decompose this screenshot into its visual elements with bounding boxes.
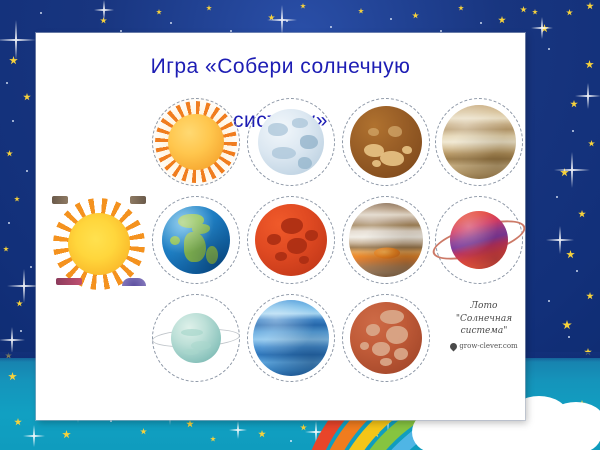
- star-dot: [30, 266, 32, 268]
- great-red-spot: [374, 247, 400, 258]
- star-dot: [290, 440, 292, 442]
- planet-card-sun[interactable]: [150, 96, 242, 188]
- earth-icon: [162, 206, 230, 274]
- neptune-icon: [253, 300, 329, 376]
- star-dot: [40, 12, 42, 14]
- star-dot: [572, 130, 574, 132]
- fragment-bottom-left: [56, 278, 82, 285]
- star-dot: [568, 336, 570, 338]
- mars-icon: [255, 204, 327, 276]
- sparkle-icon: [94, 0, 114, 20]
- planet-card-uranus[interactable]: [150, 292, 242, 384]
- star-dot: [6, 82, 8, 84]
- star-dot: [576, 270, 578, 272]
- planet-card-pluto[interactable]: [340, 292, 432, 384]
- star-dot: [548, 300, 550, 302]
- sparkle-icon: [546, 226, 574, 254]
- sparkle-icon: [575, 83, 600, 109]
- jupiter-bands-icon: [442, 105, 516, 179]
- planet-card-venus[interactable]: [340, 96, 432, 188]
- venus-icon: [350, 106, 422, 178]
- slide: Игра «Собери солнечную систему»: [0, 0, 600, 450]
- pluto-icon: [350, 302, 422, 374]
- sun-icon: [168, 114, 224, 170]
- star-dot: [12, 120, 14, 122]
- jupiter-icon: [349, 203, 423, 277]
- sparkle-icon: [0, 327, 25, 353]
- star-dot: [556, 196, 558, 198]
- sparkle-icon: [0, 20, 36, 60]
- caption-line-1: Лото: [443, 300, 525, 312]
- planet-card-jupiter-bands[interactable]: [433, 96, 525, 188]
- lotto-caption: Лото "Солнечная система" grow-clever.com: [443, 300, 525, 352]
- caption-site: grow-clever.com: [443, 340, 525, 352]
- star-dot: [548, 48, 550, 50]
- planet-card-mercury[interactable]: [245, 96, 337, 188]
- title-line-1: Игра «Собери солнечную: [36, 53, 525, 80]
- star-dot: [110, 420, 112, 422]
- planet-card-mars[interactable]: [245, 194, 337, 286]
- fragment-top-left: [52, 196, 68, 204]
- sparkle-icon: [229, 421, 247, 439]
- site-url: grow-clever.com: [459, 340, 517, 352]
- planet-card-neptune[interactable]: [245, 292, 337, 384]
- sun-illustration: [50, 196, 148, 288]
- mercury-icon: [258, 109, 324, 175]
- star-dot: [8, 222, 10, 224]
- planet-card-jupiter-spot[interactable]: [340, 194, 432, 286]
- star-dot: [170, 22, 172, 24]
- sun-core-icon: [68, 213, 130, 275]
- caption-line-2: "Солнечная система": [443, 313, 525, 337]
- uranus-icon: [171, 313, 221, 363]
- star-dot: [390, 18, 392, 20]
- sparkle-icon: [554, 152, 590, 188]
- star-dot: [480, 22, 482, 24]
- planet-card-earth[interactable]: [150, 194, 242, 286]
- planet-card-saturn[interactable]: [433, 194, 525, 286]
- fragment-bottom-right: [122, 278, 146, 286]
- fragment-top-right: [130, 196, 146, 204]
- leaf-icon: [449, 341, 459, 351]
- sparkle-icon: [23, 425, 45, 447]
- sparkle-icon: [531, 17, 553, 39]
- saturn-icon: [450, 211, 508, 269]
- star-dot: [26, 170, 28, 172]
